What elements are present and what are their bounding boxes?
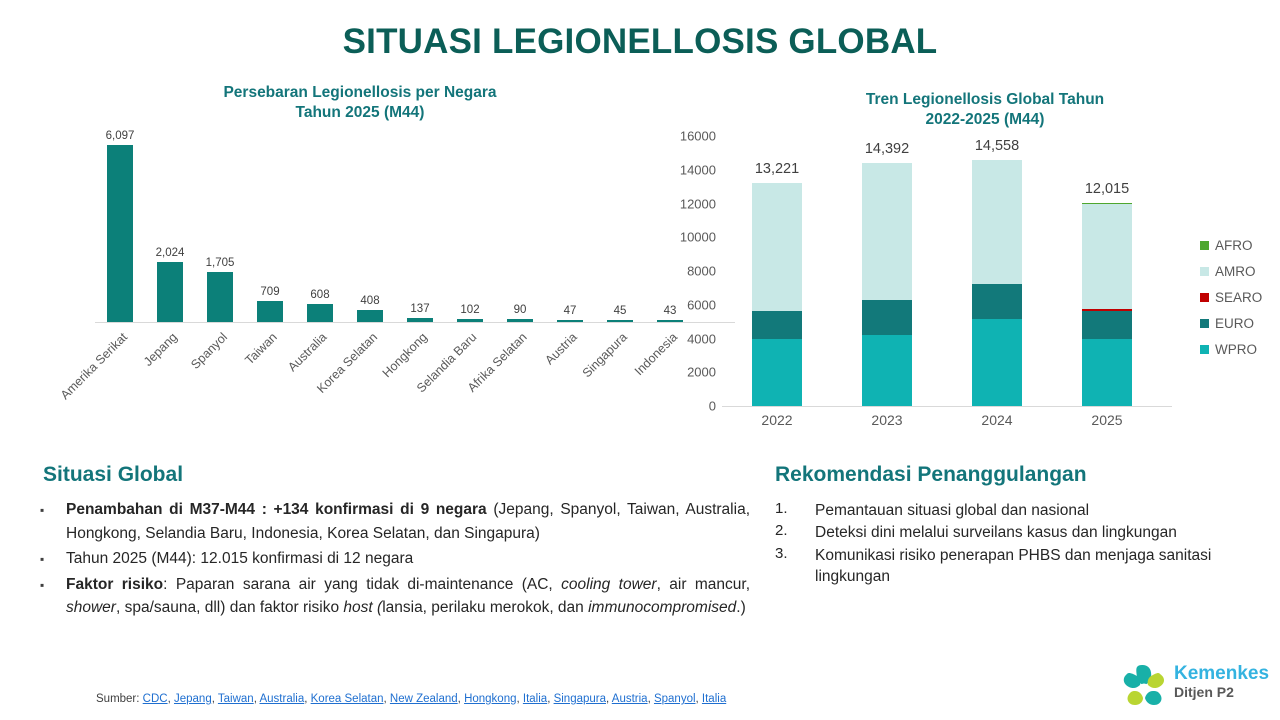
bullet-marker-icon: ▪ — [40, 547, 66, 571]
bullet-item: ▪Faktor risiko: Paparan sarana air yang … — [40, 573, 750, 620]
source-link[interactable]: New Zealand — [390, 693, 458, 705]
y-axis-tick-label: 14000 — [680, 162, 716, 177]
bar-value-label: 709 — [260, 286, 279, 298]
stacked-bar — [972, 160, 1022, 406]
y-axis-tick-label: 6000 — [687, 297, 716, 312]
bar-value-label: 47 — [564, 305, 577, 317]
x-axis-label: Amerika Serikat — [58, 330, 130, 402]
x-label-cell: Singapura — [595, 326, 645, 436]
stack-segment-euro — [862, 300, 912, 335]
right-chart-legend: AFROAMROSEAROEUROWPRO — [1200, 236, 1280, 366]
legend-item-wpro[interactable]: WPRO — [1200, 340, 1280, 358]
list-item-number: 3. — [775, 545, 815, 588]
left-bar-chart: 6,0972,0241,70570960840813710290474543 A… — [60, 130, 700, 430]
stack-segment-wpro — [862, 335, 912, 406]
left-chart-title: Persebaran Legionellosis per Negara Tahu… — [110, 83, 610, 124]
y-axis-tick-label: 4000 — [687, 331, 716, 346]
logo-name: Kemenkes — [1174, 664, 1269, 684]
left-chart-title-line2: Tahun 2025 (M44) — [110, 103, 610, 123]
right-chart-columns: 13,22114,39214,55812,015 — [722, 136, 1162, 406]
list-item-text: Pemantauan situasi global dan nasional — [815, 500, 1225, 521]
list-item: 3.Komunikasi risiko penerapan PHBS dan m… — [775, 545, 1225, 588]
logo-subtitle: Ditjen P2 — [1174, 684, 1269, 700]
list-item: 2.Deteksi dini melalui surveilans kasus … — [775, 522, 1225, 543]
legend-label: SEARO — [1215, 290, 1262, 305]
stacked-bar — [862, 163, 912, 406]
bullet-text: Tahun 2025 (M44): 12.015 konfirmasi di 1… — [66, 547, 750, 571]
list-item-text: Deteksi dini melalui surveilans kasus da… — [815, 522, 1225, 543]
legend-item-searo[interactable]: SEARO — [1200, 288, 1280, 306]
bar-column: 47 — [545, 130, 595, 322]
stacked-bar-column: 14,392 — [832, 136, 942, 406]
right-chart-x-labels: 2022202320242025 — [722, 412, 1162, 428]
stacked-bar-column: 14,558 — [942, 136, 1052, 406]
x-label-cell: Spanyol — [195, 326, 245, 436]
slide-root: SITUASI LEGIONELLOSIS GLOBAL Persebaran … — [0, 0, 1280, 720]
stack-segment-wpro — [752, 339, 802, 406]
bar — [307, 304, 333, 322]
bar — [157, 262, 183, 322]
bar-column: 6,097 — [95, 130, 145, 322]
stack-total-label: 14,558 — [975, 138, 1019, 154]
right-chart-baseline — [722, 406, 1172, 407]
left-chart-bars: 6,0972,0241,70570960840813710290474543 — [95, 130, 695, 322]
bar-column: 102 — [445, 130, 495, 322]
source-link[interactable]: Korea Selatan — [311, 693, 384, 705]
bar-column: 1,705 — [195, 130, 245, 322]
right-chart-title: Tren Legionellosis Global Tahun 2022-202… — [820, 90, 1150, 131]
legend-label: EURO — [1215, 316, 1254, 331]
bar — [207, 272, 233, 322]
x-axis-label: Taiwan — [242, 330, 279, 367]
stack-segment-euro — [972, 284, 1022, 319]
bar-value-label: 137 — [410, 303, 429, 315]
stack-segment-wpro — [1082, 339, 1132, 406]
source-link[interactable]: Austria — [612, 693, 648, 705]
stack-total-label: 12,015 — [1085, 181, 1129, 197]
legend-swatch-icon — [1200, 267, 1209, 276]
page-title: SITUASI LEGIONELLOSIS GLOBAL — [0, 22, 1280, 62]
bar-column: 90 — [495, 130, 545, 322]
bar-value-label: 2,024 — [156, 247, 185, 259]
legend-swatch-icon — [1200, 241, 1209, 250]
x-label-cell: Korea Selatan — [345, 326, 395, 436]
left-chart-x-labels: Amerika SerikatJepangSpanyolTaiwanAustra… — [95, 326, 695, 436]
legend-item-amro[interactable]: AMRO — [1200, 262, 1280, 280]
stack-segment-euro — [752, 311, 802, 339]
left-chart-plot: 6,0972,0241,70570960840813710290474543 — [95, 130, 695, 322]
legend-label: WPRO — [1215, 342, 1257, 357]
source-link[interactable]: Spanyol — [654, 693, 696, 705]
stack-segment-amro — [752, 183, 802, 311]
source-link[interactable]: Hongkong — [464, 693, 516, 705]
x-label-cell: Austria — [545, 326, 595, 436]
legend-item-afro[interactable]: AFRO — [1200, 236, 1280, 254]
x-axis-label: Austria — [542, 330, 579, 367]
legend-label: AFRO — [1215, 238, 1253, 253]
bullet-item: ▪Tahun 2025 (M44): 12.015 konfirmasi di … — [40, 547, 750, 571]
source-link[interactable]: Italia — [702, 693, 726, 705]
x-axis-label: Jepang — [141, 330, 180, 369]
kemenkes-flower-icon — [1118, 662, 1170, 710]
x-axis-label: 2024 — [942, 412, 1052, 428]
y-axis-tick-label: 10000 — [680, 230, 716, 245]
right-stacked-bar-chart: 1600014000120001000080006000400020000 13… — [660, 130, 1220, 430]
right-section-heading: Rekomendasi Penanggulangan — [775, 463, 1087, 487]
bar-value-label: 90 — [514, 304, 527, 316]
kemenkes-logo: Kemenkes Ditjen P2 — [1118, 660, 1273, 712]
source-link[interactable]: Italia — [523, 693, 547, 705]
legend-swatch-icon — [1200, 345, 1209, 354]
stacked-bar-column: 13,221 — [722, 136, 832, 406]
bar-column: 2,024 — [145, 130, 195, 322]
legend-item-euro[interactable]: EURO — [1200, 314, 1280, 332]
source-link[interactable]: Singapura — [554, 693, 606, 705]
source-link[interactable]: CDC — [143, 693, 168, 705]
right-section-list: 1.Pemantauan situasi global dan nasional… — [775, 500, 1225, 589]
bar-value-label: 608 — [310, 289, 329, 301]
source-line: Sumber: CDC, Jepang, Taiwan, Australia, … — [96, 693, 796, 705]
x-axis-label: 2023 — [832, 412, 942, 428]
source-link[interactable]: Taiwan — [218, 693, 254, 705]
bullet-item: ▪Penambahan di M37-M44 : +134 konfirmasi… — [40, 498, 750, 545]
list-item-number: 1. — [775, 500, 815, 521]
left-section-heading: Situasi Global — [43, 463, 183, 487]
list-item-text: Komunikasi risiko penerapan PHBS dan men… — [815, 545, 1225, 588]
bar — [257, 301, 283, 322]
list-item-number: 2. — [775, 522, 815, 543]
bar-value-label: 1,705 — [206, 257, 235, 269]
stacked-bar — [1082, 203, 1132, 406]
left-chart-title-line1: Persebaran Legionellosis per Negara — [110, 83, 610, 103]
bar-column: 608 — [295, 130, 345, 322]
stack-segment-euro — [1082, 311, 1132, 339]
stack-segment-amro — [1082, 204, 1132, 309]
bar-column: 137 — [395, 130, 445, 322]
x-label-cell: Afrika Selatan — [495, 326, 545, 436]
y-axis-tick-label: 2000 — [687, 365, 716, 380]
bar-value-label: 6,097 — [106, 130, 135, 142]
x-label-cell: Jepang — [145, 326, 195, 436]
bar — [107, 145, 133, 322]
legend-label: AMRO — [1215, 264, 1256, 279]
stack-segment-amro — [972, 160, 1022, 284]
stack-segment-amro — [862, 163, 912, 300]
x-label-cell: Amerika Serikat — [95, 326, 145, 436]
bullet-text: Faktor risiko: Paparan sarana air yang t… — [66, 573, 750, 620]
bar-value-label: 45 — [614, 305, 627, 317]
bar-value-label: 102 — [460, 304, 479, 316]
stack-total-label: 13,221 — [755, 161, 799, 177]
y-axis-tick-label: 8000 — [687, 264, 716, 279]
right-chart-title-line2: 2022-2025 (M44) — [820, 110, 1150, 130]
y-axis-tick-label: 0 — [709, 399, 716, 414]
bar — [357, 310, 383, 322]
bullet-marker-icon: ▪ — [40, 498, 66, 545]
legend-swatch-icon — [1200, 319, 1209, 328]
legend-swatch-icon — [1200, 293, 1209, 302]
source-link[interactable]: Jepang — [174, 693, 212, 705]
x-axis-label: 2025 — [1052, 412, 1162, 428]
x-axis-label: Spanyol — [188, 330, 230, 372]
source-link[interactable]: Australia — [259, 693, 304, 705]
stack-total-label: 14,392 — [865, 141, 909, 157]
bullet-text: Penambahan di M37-M44 : +134 konfirmasi … — [66, 498, 750, 545]
logo-text: Kemenkes Ditjen P2 — [1174, 664, 1269, 700]
stacked-bar-column: 12,015 — [1052, 136, 1162, 406]
list-item: 1.Pemantauan situasi global dan nasional — [775, 500, 1225, 521]
bar-value-label: 408 — [360, 295, 379, 307]
bar-column: 45 — [595, 130, 645, 322]
x-axis-label: 2022 — [722, 412, 832, 428]
left-section-bullets: ▪Penambahan di M37-M44 : +134 konfirmasi… — [40, 498, 750, 622]
y-axis-tick-label: 12000 — [680, 196, 716, 211]
bar-column: 408 — [345, 130, 395, 322]
left-chart-axis-line — [95, 322, 735, 323]
stacked-bar — [752, 183, 802, 406]
right-chart-plot: 13,22114,39214,55812,015 — [722, 136, 1162, 406]
stack-segment-wpro — [972, 319, 1022, 406]
y-axis-tick-label: 16000 — [680, 129, 716, 144]
right-chart-title-line1: Tren Legionellosis Global Tahun — [820, 90, 1150, 110]
bullet-marker-icon: ▪ — [40, 573, 66, 620]
right-chart-y-axis: 1600014000120001000080006000400020000 — [660, 136, 716, 406]
bar-column: 709 — [245, 130, 295, 322]
source-label: Sumber: — [96, 693, 143, 705]
x-label-cell: Taiwan — [245, 326, 295, 436]
